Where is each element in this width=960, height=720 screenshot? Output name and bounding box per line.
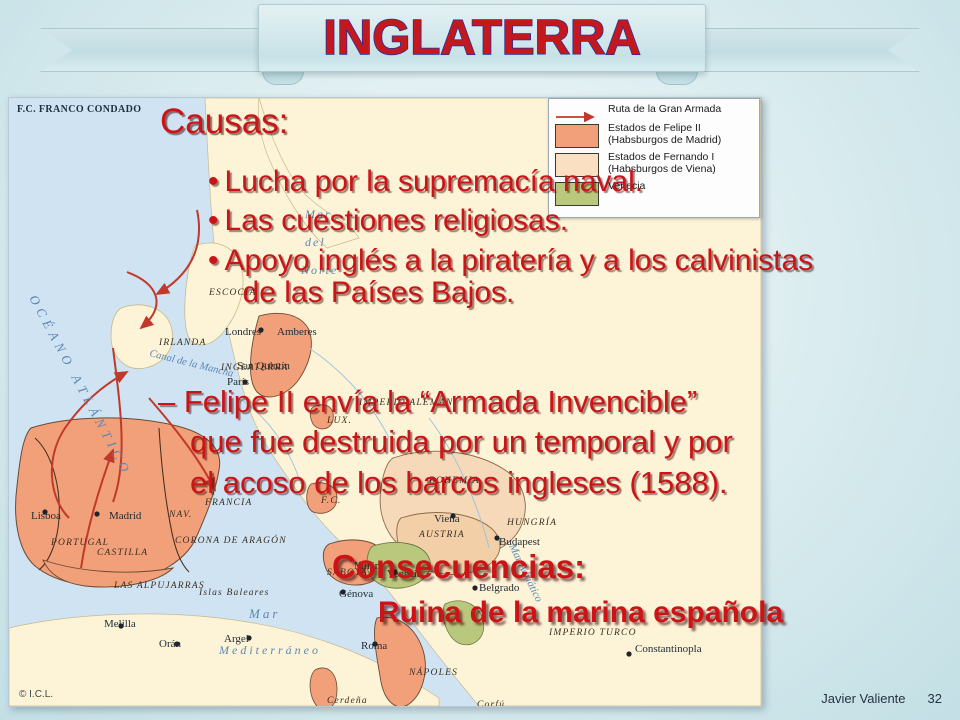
bullet-dot-icon: • xyxy=(208,246,219,276)
bullet-text: Lucha por la supremacía naval. xyxy=(225,166,644,198)
ribbon-tail-right xyxy=(688,28,920,72)
legend-text: Estados de Fernando I xyxy=(608,151,714,163)
causes-heading: Causas: xyxy=(160,104,288,140)
slide: INGLATERRA xyxy=(0,0,960,720)
armada-line-2: que fue destruida por un temporal y por xyxy=(158,422,733,462)
legend-subtext: (Habsburgos de Madrid) xyxy=(608,135,721,147)
bullet-dot-icon: • xyxy=(208,206,219,236)
ribbon-tail-left xyxy=(40,28,272,72)
legend-key-felipe xyxy=(555,123,601,148)
title-ribbon: INGLATERRA xyxy=(0,0,960,90)
bullet-line-2: de las Países Bajos. xyxy=(225,277,814,309)
armada-line-2-text: que fue destruida por un temporal y por xyxy=(158,422,733,462)
bullet-text: Las cuestiones religiosas. xyxy=(225,205,569,237)
map-top-label: F.C. FRANCO CONDADO xyxy=(17,104,141,115)
list-item: • Lucha por la supremacía naval. xyxy=(208,166,813,198)
bullet-text: Apoyo inglés a la piratería y a los calv… xyxy=(225,245,814,310)
legend-label-felipe: Estados de Felipe II (Habsburgos de Madr… xyxy=(608,123,721,146)
svg-text:Mediterráneo: Mediterráneo xyxy=(218,643,321,657)
list-item: • Las cuestiones religiosas. xyxy=(208,205,813,237)
swatch-orange-icon xyxy=(555,124,599,148)
red-arrow-icon xyxy=(555,112,601,122)
page-number: 32 xyxy=(928,691,942,706)
map-credit: © I.C.L. xyxy=(19,689,53,700)
bullet-line: Lucha por la supremacía naval. xyxy=(225,165,644,198)
svg-text:Canal de la Mancha: Canal de la Mancha xyxy=(148,348,234,379)
armada-statement: – Felipe II envía la “Armada Invencible”… xyxy=(158,382,733,503)
legend-text: Ruta de la Gran Armada xyxy=(608,103,721,115)
legend-key-arrow xyxy=(555,104,601,119)
author-name: Javier Valiente xyxy=(821,691,905,706)
consequences-heading: Consecuencias: xyxy=(332,550,585,584)
bullet-line: Las cuestiones religiosas. xyxy=(225,204,569,237)
armada-line-3: el acoso de los barcos ingleses (1588). xyxy=(158,463,733,503)
causes-bullet-list: • Lucha por la supremacía naval. • Las c… xyxy=(208,166,813,317)
bullet-dot-icon: • xyxy=(208,167,219,197)
legend-item-felipe: Estados de Felipe II (Habsburgos de Madr… xyxy=(555,123,753,148)
bullet-line: Apoyo inglés a la piratería y a los calv… xyxy=(225,244,814,277)
ribbon-plate: INGLATERRA xyxy=(258,4,706,72)
consequences-text: Ruina de la marina española xyxy=(378,597,783,628)
armada-line-3-text: el acoso de los barcos ingleses (1588). xyxy=(158,463,728,503)
list-item: • Apoyo inglés a la piratería y a los ca… xyxy=(208,245,813,310)
slide-footer: Javier Valiente 32 xyxy=(821,691,942,706)
armada-line-1: – Felipe II envía la “Armada Invencible” xyxy=(158,382,733,422)
svg-text:Mar: Mar xyxy=(248,606,280,621)
page-title: INGLATERRA xyxy=(323,14,641,63)
legend-text: Estados de Felipe II xyxy=(608,122,701,134)
legend-item-route: Ruta de la Gran Armada xyxy=(555,104,753,119)
legend-label-route: Ruta de la Gran Armada xyxy=(608,104,721,116)
